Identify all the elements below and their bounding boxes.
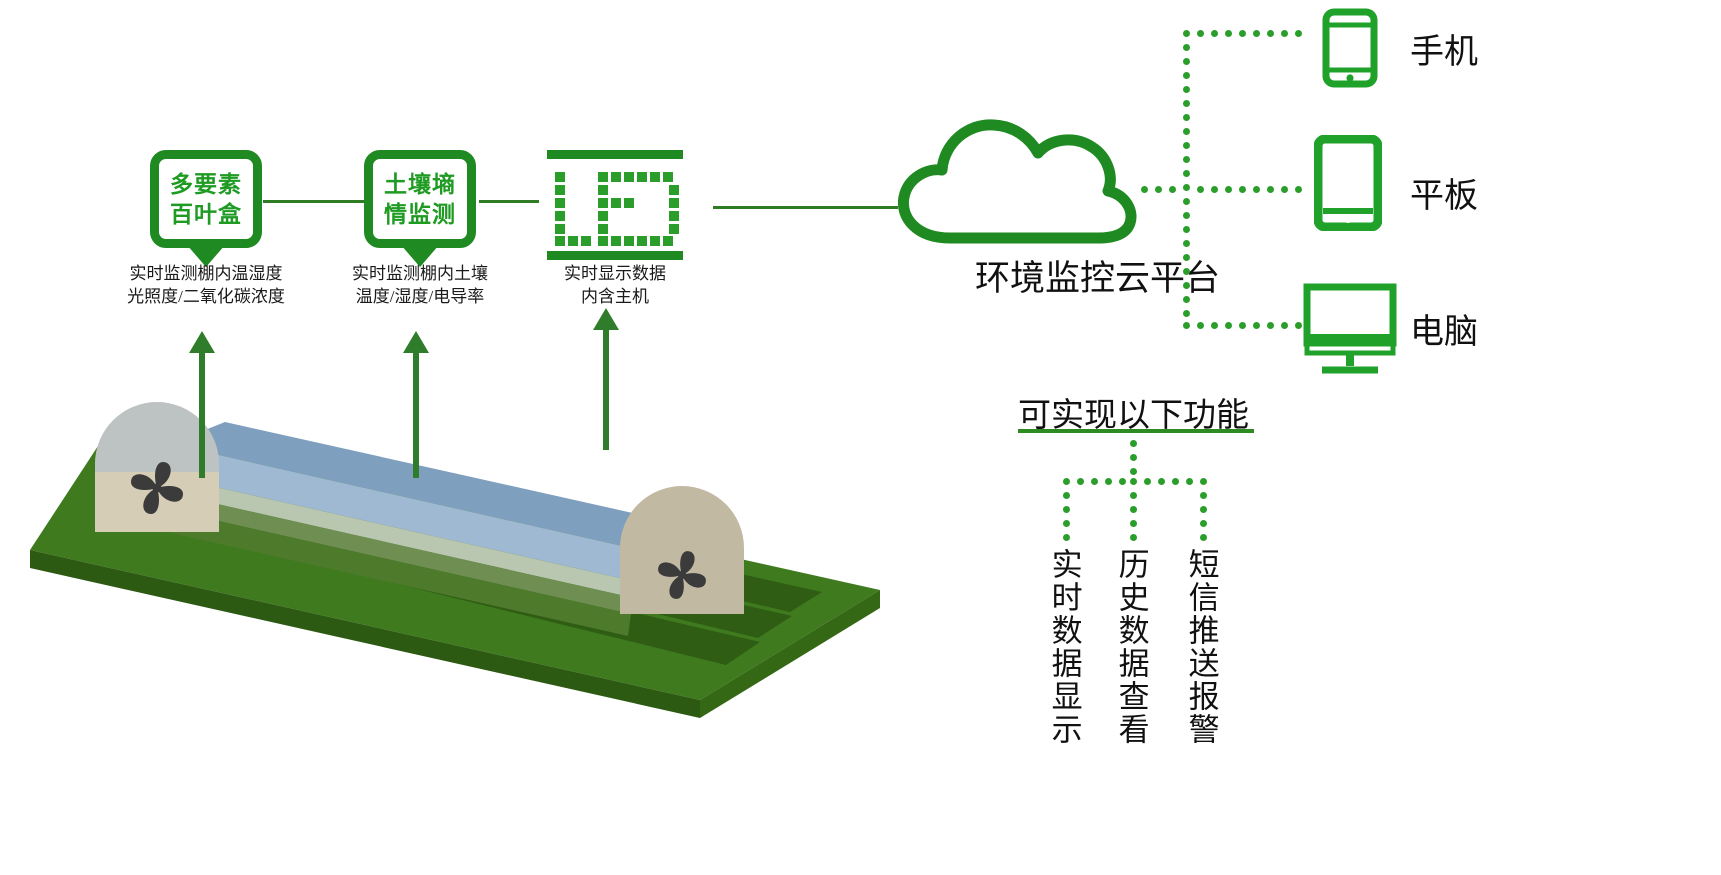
greenhouse-illustration [0,400,900,820]
caption-soil-moisture-monitor: 实时监测棚内土壤 温度/湿度/电导率 [300,262,540,308]
feature-item-sms-push-alarm[interactable]: 短信推送报警 [1185,548,1217,746]
caption-line-1: 实时监测棚内土壤 [300,262,540,285]
diagram-canvas: 多要素 百叶盒 实时监测棚内温湿度 光照度/二氧化碳浓度 土壤墒 情监测 实时监… [0,0,1721,875]
callout-line-1: 多要素 [170,169,242,199]
feature-item-history-data-view[interactable]: 历史数据查看 [1115,548,1147,746]
desktop-monitor-icon[interactable] [1302,282,1398,378]
mobile-phone-icon[interactable] [1322,8,1378,88]
callout-multi-element-louver-box[interactable]: 多要素 百叶盒 [150,150,262,248]
caption-line-2: 温度/湿度/电导率 [300,285,540,308]
cloud-icon [890,105,1140,250]
led-display-panel[interactable] [547,150,683,260]
arrow-head-3 [593,308,619,330]
arrow-head-2 [403,331,429,353]
features-underline [1018,429,1254,433]
callout-line-1: 土壤墒 [384,169,456,199]
arrow-shaft-2 [413,353,419,478]
arrow-shaft-3 [603,330,609,450]
callout-soil-moisture-monitor[interactable]: 土壤墒 情监测 [364,150,476,248]
device-label-phone: 手机 [1410,24,1478,73]
caption-line-2: 内含主机 [530,285,700,308]
caption-line-1: 实时显示数据 [530,262,700,285]
device-label-computer: 电脑 [1410,304,1478,353]
link-sensor2-led [479,200,539,203]
arrow-shaft-1 [199,353,205,478]
callout-line-2: 情监测 [384,199,456,229]
link-sensor1-sensor2 [263,200,368,203]
callout-line-2: 百叶盒 [170,199,242,229]
arrow-head-1 [189,331,215,353]
device-label-tablet: 平板 [1410,168,1478,217]
led-top-bar [547,150,683,159]
tablet-icon[interactable] [1314,135,1382,231]
led-matrix-text [547,172,683,246]
led-bottom-bar [547,251,683,260]
feature-item-realtime-data-display[interactable]: 实时数据显示 [1048,548,1080,746]
link-led-cloud [713,206,898,209]
caption-led-display: 实时显示数据 内含主机 [530,262,700,308]
